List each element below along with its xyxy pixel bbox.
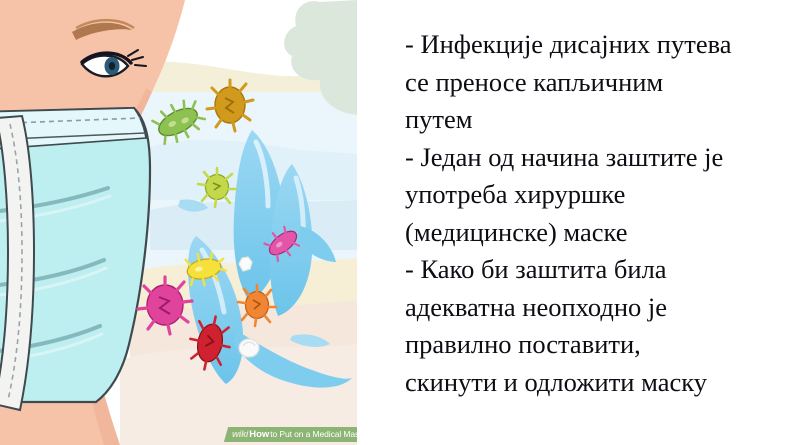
- mask-illustration: wikiHow to Put on a Medical Mask: [0, 0, 357, 445]
- watermark-text-wrap: wikiHow to Put on a Medical Mask: [232, 429, 357, 440]
- text-line-8: адекватна неопходно је: [405, 289, 794, 327]
- text-line-4: - Један од начина заштите је: [405, 139, 794, 177]
- text-line-7: - Како би заштита била: [405, 251, 794, 289]
- watermark-how-label: How: [249, 429, 269, 440]
- watermark-title-label: to Put on a Medical Mask: [270, 429, 357, 439]
- illustration-svg: [0, 0, 357, 445]
- text-line-2: се преносе капљичним: [405, 64, 794, 102]
- text-line-1: - Инфекције дисајних путева: [405, 26, 794, 64]
- eye-pupil: [109, 62, 115, 70]
- germ-white-small: [239, 339, 259, 357]
- text-panel: - Инфекције дисајних путева се преносе к…: [357, 0, 800, 445]
- text-line-10: скинути и одложити маску: [405, 364, 794, 402]
- text-line-9: правилно поставити,: [405, 326, 794, 364]
- text-line-5: употреба хируршке: [405, 176, 794, 214]
- slide-root: wikiHow to Put on a Medical Mask - Инфек…: [0, 0, 800, 445]
- watermark-wiki-label: wiki: [232, 429, 248, 439]
- text-line-3: путем: [405, 101, 794, 139]
- text-line-6: (медицинске) маске: [405, 214, 794, 252]
- wikihow-watermark: wikiHow to Put on a Medical Mask: [230, 427, 357, 442]
